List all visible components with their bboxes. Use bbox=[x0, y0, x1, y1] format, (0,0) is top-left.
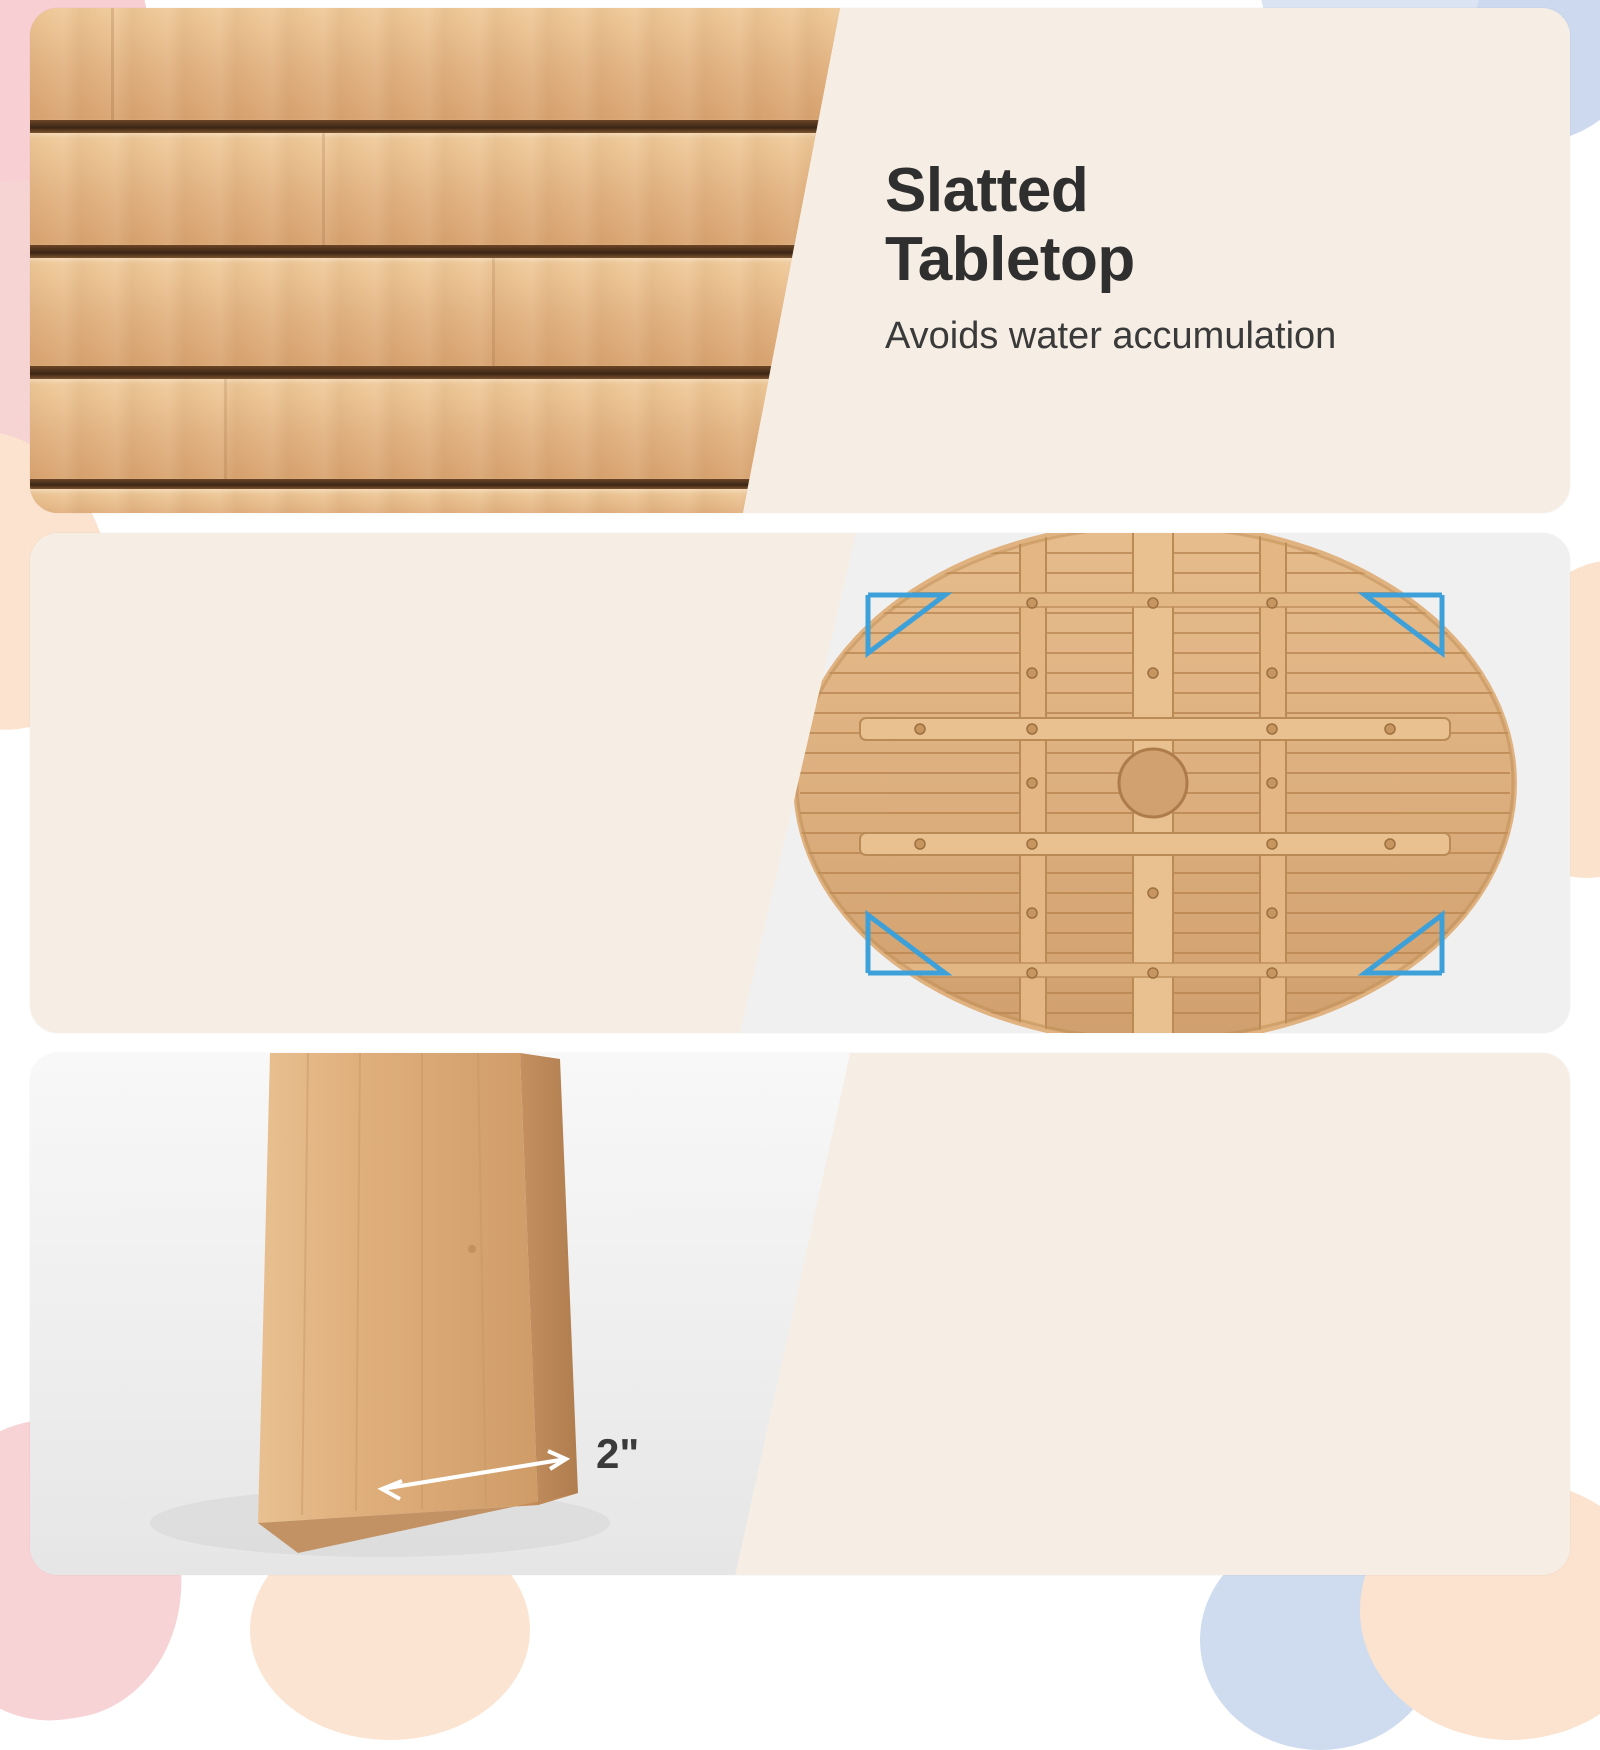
table-leg-photo: 2" bbox=[30, 1053, 850, 1575]
card-title-line1: Slatted bbox=[885, 156, 1088, 225]
feature-card-thick-legs: 2" 2" Thick Legs Ensure a 165 lbs load-b… bbox=[30, 1053, 1570, 1575]
feature-card-reinforced-bottom: Reinforced Bottom Structure Enhances the… bbox=[30, 533, 1570, 1033]
card-subtitle: Avoids water accumulation bbox=[885, 313, 1545, 361]
card-title: Slatted Tabletop bbox=[885, 156, 1545, 295]
card-title-line2: Tabletop bbox=[885, 225, 1135, 294]
dimension-label: 2" bbox=[596, 1430, 639, 1477]
table-underside-photo bbox=[740, 533, 1570, 1033]
table-underside-graphic bbox=[740, 533, 1570, 1033]
slatted-tabletop-text: Slatted Tabletop Avoids water accumulati… bbox=[885, 156, 1545, 360]
slatted-tabletop-photo bbox=[30, 8, 840, 513]
table-leg-graphic: 2" bbox=[30, 1053, 850, 1575]
feature-card-slatted-tabletop: Slatted Tabletop Avoids water accumulati… bbox=[30, 8, 1570, 513]
slatted-wood-graphic bbox=[30, 8, 840, 513]
